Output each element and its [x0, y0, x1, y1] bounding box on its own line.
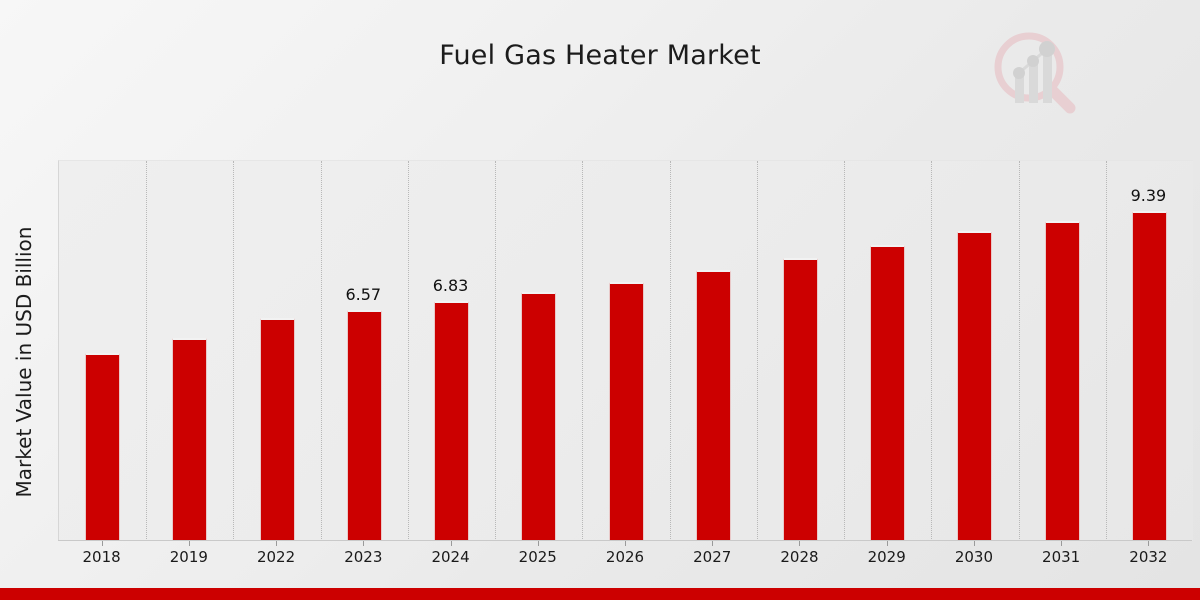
x-tick-label-2019: 2019 [154, 548, 224, 566]
plot-area [58, 160, 1193, 541]
bar-2024[interactable] [434, 301, 469, 541]
x-tick-label-2025: 2025 [503, 548, 573, 566]
x-tick-label-2027: 2027 [677, 548, 747, 566]
bar-2026[interactable] [609, 282, 644, 541]
gridline [582, 161, 583, 541]
x-tick-label-2018: 2018 [67, 548, 137, 566]
bar-value-label-2023: 6.57 [328, 285, 398, 304]
bar-2030[interactable] [957, 231, 992, 541]
gridline [844, 161, 845, 541]
bar-2022[interactable] [260, 318, 295, 541]
bar-value-label-2024: 6.83 [416, 276, 486, 295]
gridline [146, 161, 147, 541]
gridline [1106, 161, 1107, 541]
x-tick-2027 [712, 541, 713, 546]
x-tick-2026 [625, 541, 626, 546]
gridline [1019, 161, 1020, 541]
x-tick-2028 [799, 541, 800, 546]
x-tick-label-2022: 2022 [241, 548, 311, 566]
x-tick-2031 [1061, 541, 1062, 546]
bar-2027[interactable] [696, 270, 731, 541]
x-tick-label-2024: 2024 [416, 548, 486, 566]
x-tick-label-2030: 2030 [939, 548, 1009, 566]
x-tick-label-2026: 2026 [590, 548, 660, 566]
gridline [233, 161, 234, 541]
x-tick-label-2032: 2032 [1113, 548, 1183, 566]
x-tick-2022 [276, 541, 277, 546]
x-tick-2018 [102, 541, 103, 546]
bar-value-label-2032: 9.39 [1113, 186, 1183, 205]
bar-2023[interactable] [347, 310, 382, 541]
x-tick-2025 [538, 541, 539, 546]
gridline [495, 161, 496, 541]
gridline [931, 161, 932, 541]
x-tick-2019 [189, 541, 190, 546]
gridline [321, 161, 322, 541]
magnifier-bar-chart-logo [985, 25, 1080, 120]
gridline [408, 161, 409, 541]
y-axis-label: Market Value in USD Billion [12, 152, 36, 572]
gridline [670, 161, 671, 541]
bar-2019[interactable] [172, 338, 207, 541]
chart-figure: Fuel Gas Heater Market Market Value in U… [0, 0, 1200, 600]
x-tick-2032 [1148, 541, 1149, 546]
x-tick-label-2031: 2031 [1026, 548, 1096, 566]
bar-2025[interactable] [521, 292, 556, 541]
x-tick-label-2028: 2028 [764, 548, 834, 566]
x-tick-2023 [363, 541, 364, 546]
x-tick-label-2023: 2023 [328, 548, 398, 566]
bar-2029[interactable] [870, 245, 905, 541]
bar-2028[interactable] [783, 258, 818, 541]
x-tick-2029 [887, 541, 888, 546]
x-tick-2030 [974, 541, 975, 546]
footer-accent-bar [0, 588, 1200, 600]
bar-2032[interactable] [1132, 211, 1167, 541]
bar-2018[interactable] [85, 353, 120, 541]
bar-2031[interactable] [1045, 221, 1080, 541]
x-tick-label-2029: 2029 [852, 548, 922, 566]
x-tick-2024 [451, 541, 452, 546]
gridline [757, 161, 758, 541]
